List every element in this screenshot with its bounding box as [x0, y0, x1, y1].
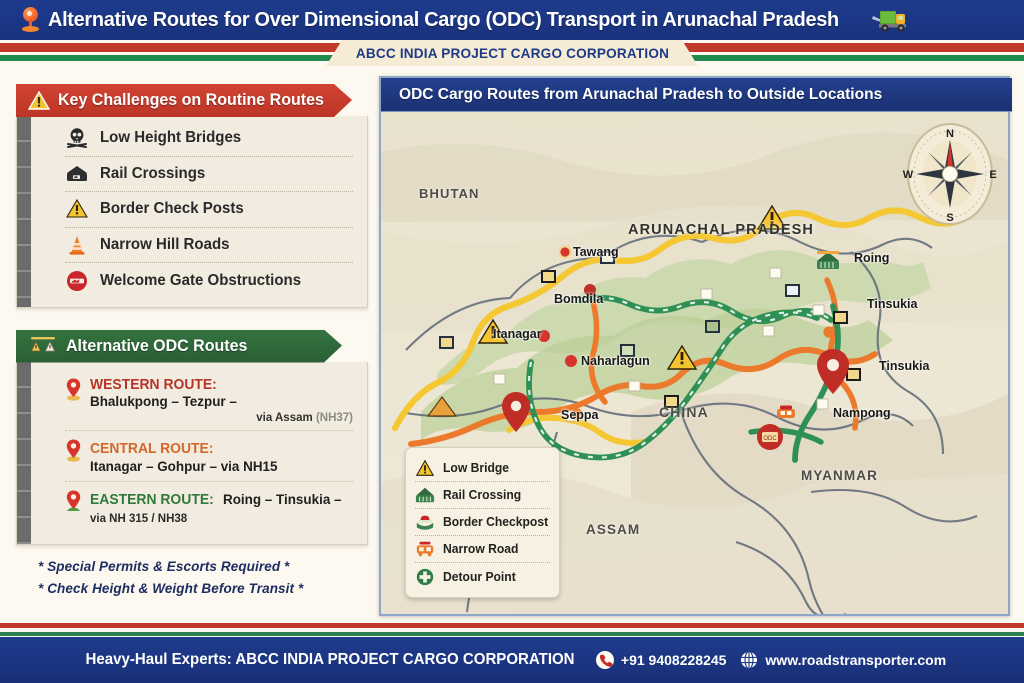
- route-via: via NH 315 / NH38: [90, 513, 187, 525]
- alternative-routes-list: WESTERN ROUTE: Bhalukpong – Tezpur – via…: [16, 362, 368, 545]
- challenge-label: Low Height Bridges: [100, 129, 241, 147]
- page-header: Alternative Routes for Over Dimensional …: [0, 0, 1024, 40]
- route-name: EASTERN ROUTE:: [90, 492, 214, 508]
- route-text: WESTERN ROUTE: Bhalukpong – Tezpur – via…: [90, 376, 353, 426]
- route-desc: Roing – Tinsukia –: [223, 492, 342, 508]
- map-pin-icon: [22, 7, 39, 33]
- footer-band-red: [0, 623, 1024, 628]
- compass-south-label: S: [946, 212, 953, 224]
- footer-phone-group[interactable]: +91 9408228245: [595, 650, 727, 670]
- route-name: WESTERN ROUTE:: [90, 377, 217, 393]
- route-via-nh: (NH37): [316, 412, 353, 424]
- warning-triangle-icon: [415, 458, 435, 478]
- challenge-item: Rail Crossings: [65, 157, 353, 193]
- city-label: Tawang: [573, 245, 619, 259]
- warning-triangle-icon: [65, 197, 89, 221]
- map-pin-icon: [65, 438, 82, 462]
- region-label: ASSAM: [586, 522, 640, 537]
- page-title: Alternative Routes for Over Dimensional …: [48, 8, 839, 32]
- brand-ribbon: ABCC INDIA PROJECT CARGO CORPORATION: [0, 40, 1024, 66]
- rail-bridge-icon: [415, 485, 435, 505]
- phone-icon: [595, 650, 615, 670]
- challenge-label: Border Check Posts: [100, 200, 244, 218]
- no-entry-sign-icon: [65, 269, 89, 293]
- route-via-text: via Assam: [256, 412, 312, 424]
- footer-tagline: Heavy-Haul Experts: ABCC INDIA PROJECT C…: [85, 651, 574, 669]
- map-pin-icon: [65, 489, 82, 513]
- rail-crossing-icon: [65, 162, 89, 186]
- footer-bands: [0, 623, 1024, 637]
- cargo-truck-icon: [872, 7, 912, 33]
- alternative-routes-title: Alternative ODC Routes: [66, 337, 247, 356]
- route-via: via Assam (NH37): [90, 412, 353, 425]
- svg-text:ODC: ODC: [763, 436, 777, 442]
- legend-label: Border Checkpost: [443, 515, 548, 529]
- city-label: Tinsukia: [879, 359, 929, 373]
- footer-website: www.roadstransporter.com: [765, 652, 946, 668]
- city-label: Itanagar: [493, 327, 542, 341]
- border-checkpost-icon: [415, 512, 435, 532]
- company-name: ABCC INDIA PROJECT CARGO CORPORATION: [355, 45, 668, 61]
- legend-item: Rail Crossing: [415, 482, 550, 509]
- route-text: EASTERN ROUTE: Roing – Tinsukia –via NH …: [90, 488, 353, 527]
- challenge-label: Rail Crossings: [100, 165, 205, 183]
- footer-website-group[interactable]: www.roadstransporter.com: [739, 650, 946, 670]
- narrow-road-car-icon: [415, 539, 435, 559]
- legend-label: Detour Point: [443, 570, 516, 584]
- city-label: Bomdila: [554, 292, 603, 306]
- note-line: * Special Permits & Escorts Required *: [38, 559, 368, 574]
- route-item: WESTERN ROUTE: Bhalukpong – Tezpur – via…: [65, 370, 353, 432]
- challenge-label: Welcome Gate Obstructions: [100, 272, 301, 290]
- key-challenges-title: Key Challenges on Routine Routes: [58, 91, 324, 110]
- route-name: CENTRAL ROUTE:: [90, 441, 213, 457]
- region-label: BHUTAN: [419, 186, 480, 201]
- key-challenges-panel: Key Challenges on Routine Routes Low Hei: [16, 84, 368, 308]
- warning-triangle-icon: [28, 91, 50, 111]
- left-column: Key Challenges on Routine Routes Low Hei: [16, 84, 368, 603]
- challenge-item: Welcome Gate Obstructions: [65, 263, 353, 299]
- alternative-routes-panel: Alternative ODC Routes WESTERN ROUTE: Bh…: [16, 330, 368, 545]
- legend-item: Detour Point: [415, 563, 550, 590]
- key-challenges-banner: Key Challenges on Routine Routes: [16, 84, 352, 117]
- legend-label: Rail Crossing: [443, 488, 521, 502]
- key-challenges-list: Low Height Bridges Rail Crossings: [16, 116, 368, 308]
- ribbon-center: ABCC INDIA PROJECT CARGO CORPORATION: [326, 40, 698, 66]
- globe-icon: [739, 650, 759, 670]
- map-title: ODC Cargo Routes from Arunachal Pradesh …: [399, 86, 882, 104]
- compass-west-label: W: [903, 169, 914, 181]
- skull-crossbones-icon: [65, 126, 89, 150]
- legend-item: Low Bridge: [415, 455, 550, 482]
- footer-phone: +91 9408228245: [621, 652, 727, 668]
- map-canvas[interactable]: ODC: [381, 112, 1008, 614]
- legend-label: Low Bridge: [443, 461, 509, 475]
- region-label: CHINA: [659, 404, 709, 420]
- note-line: * Check Height & Weight Before Transit *: [38, 581, 368, 596]
- legend-item: Narrow Road: [415, 536, 550, 563]
- legend-label: Narrow Road: [443, 542, 518, 556]
- page-footer: Heavy-Haul Experts: ABCC INDIA PROJECT C…: [0, 637, 1024, 683]
- route-text: CENTRAL ROUTE: Itanagar – Gohpur – via N…: [90, 437, 353, 476]
- city-label: Seppa: [561, 408, 599, 422]
- city-label: Naharlagun: [581, 354, 650, 368]
- alternative-routes-banner: Alternative ODC Routes: [16, 330, 342, 363]
- challenge-item: Low Height Bridges: [65, 121, 353, 157]
- footer-band-green: [0, 632, 1024, 636]
- city-label: Nampong: [833, 406, 891, 420]
- challenge-item: Narrow Hill Roads: [65, 228, 353, 264]
- map-header: ODC Cargo Routes from Arunachal Pradesh …: [381, 78, 1012, 112]
- traffic-cone-icon: [65, 233, 89, 257]
- city-label: Tinsukia: [867, 297, 917, 311]
- route-item: EASTERN ROUTE: Roing – Tinsukia –via NH …: [65, 482, 353, 532]
- city-label: Roing: [854, 251, 889, 265]
- region-label: ARUNACHAL PRADESH: [628, 222, 814, 238]
- infographic-page: Alternative Routes for Over Dimensional …: [0, 0, 1024, 683]
- compass-north-label: N: [946, 128, 954, 140]
- compass-rose-icon: N S E W: [898, 118, 1002, 230]
- route-item: CENTRAL ROUTE: Itanagar – Gohpur – via N…: [65, 431, 353, 482]
- route-desc: Bhalukpong – Tezpur –: [90, 394, 237, 410]
- challenge-label: Narrow Hill Roads: [100, 236, 229, 254]
- map-panel: ODC Cargo Routes from Arunachal Pradesh …: [379, 76, 1010, 616]
- map-pin-icon: [65, 377, 82, 401]
- challenge-item: Border Check Posts: [65, 192, 353, 228]
- map-legend: Low Bridge Rail Crossing: [405, 447, 560, 598]
- detour-plus-icon: [415, 567, 435, 587]
- compass-east-label: E: [989, 169, 996, 181]
- legend-item: Border Checkpost: [415, 509, 550, 536]
- balance-scales-icon: [28, 335, 58, 357]
- transit-notes: * Special Permits & Escorts Required * *…: [16, 559, 368, 596]
- region-label: MYANMAR: [801, 468, 878, 483]
- route-desc: Itanagar – Gohpur – via NH15: [90, 459, 277, 475]
